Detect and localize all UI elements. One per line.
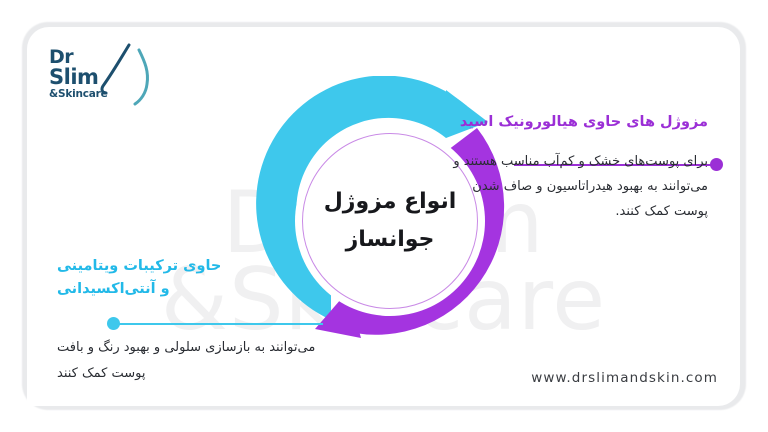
callout-heading-hyaluronic: مزوژل های حاوی هیالورونیک اسید xyxy=(436,112,708,134)
center-title-line2: جوانساز xyxy=(346,228,435,252)
infographic-canvas: Dr Slim &Skincare Dr Slim &Skincare xyxy=(0,0,768,432)
callout-heading-vitamin-line2: و آنتی‌اکسیدانی xyxy=(57,278,319,301)
site-url[interactable]: www.drslimandskin.com xyxy=(531,370,718,386)
callout-hyaluronic-acid: مزوژل های حاوی هیالورونیک اسید برای پوست… xyxy=(436,112,708,225)
callout-body-hyaluronic: برای پوست‌های خشک و کم‌آب مناسب هستند و … xyxy=(436,149,708,225)
callout-heading-vitamin-line1: حاوی ترکیبات ویتامینی xyxy=(57,255,319,278)
callout-body-vitamin: می‌توانند به بازسازی سلولی و بهبود رنگ و… xyxy=(57,335,319,386)
infographic-card: Dr Slim &Skincare Dr Slim &Skincare xyxy=(27,27,740,406)
callout-heading-vitamin: حاوی ترکیبات ویتامینی و آنتی‌اکسیدانی xyxy=(57,255,319,301)
brand-logo: Dr Slim &Skincare xyxy=(43,42,188,110)
callout-vitamin-antioxidant: حاوی ترکیبات ویتامینی و آنتی‌اکسیدانی می… xyxy=(57,255,319,386)
connector-dot-purple xyxy=(710,158,723,171)
body-silhouette-icon xyxy=(99,42,157,112)
